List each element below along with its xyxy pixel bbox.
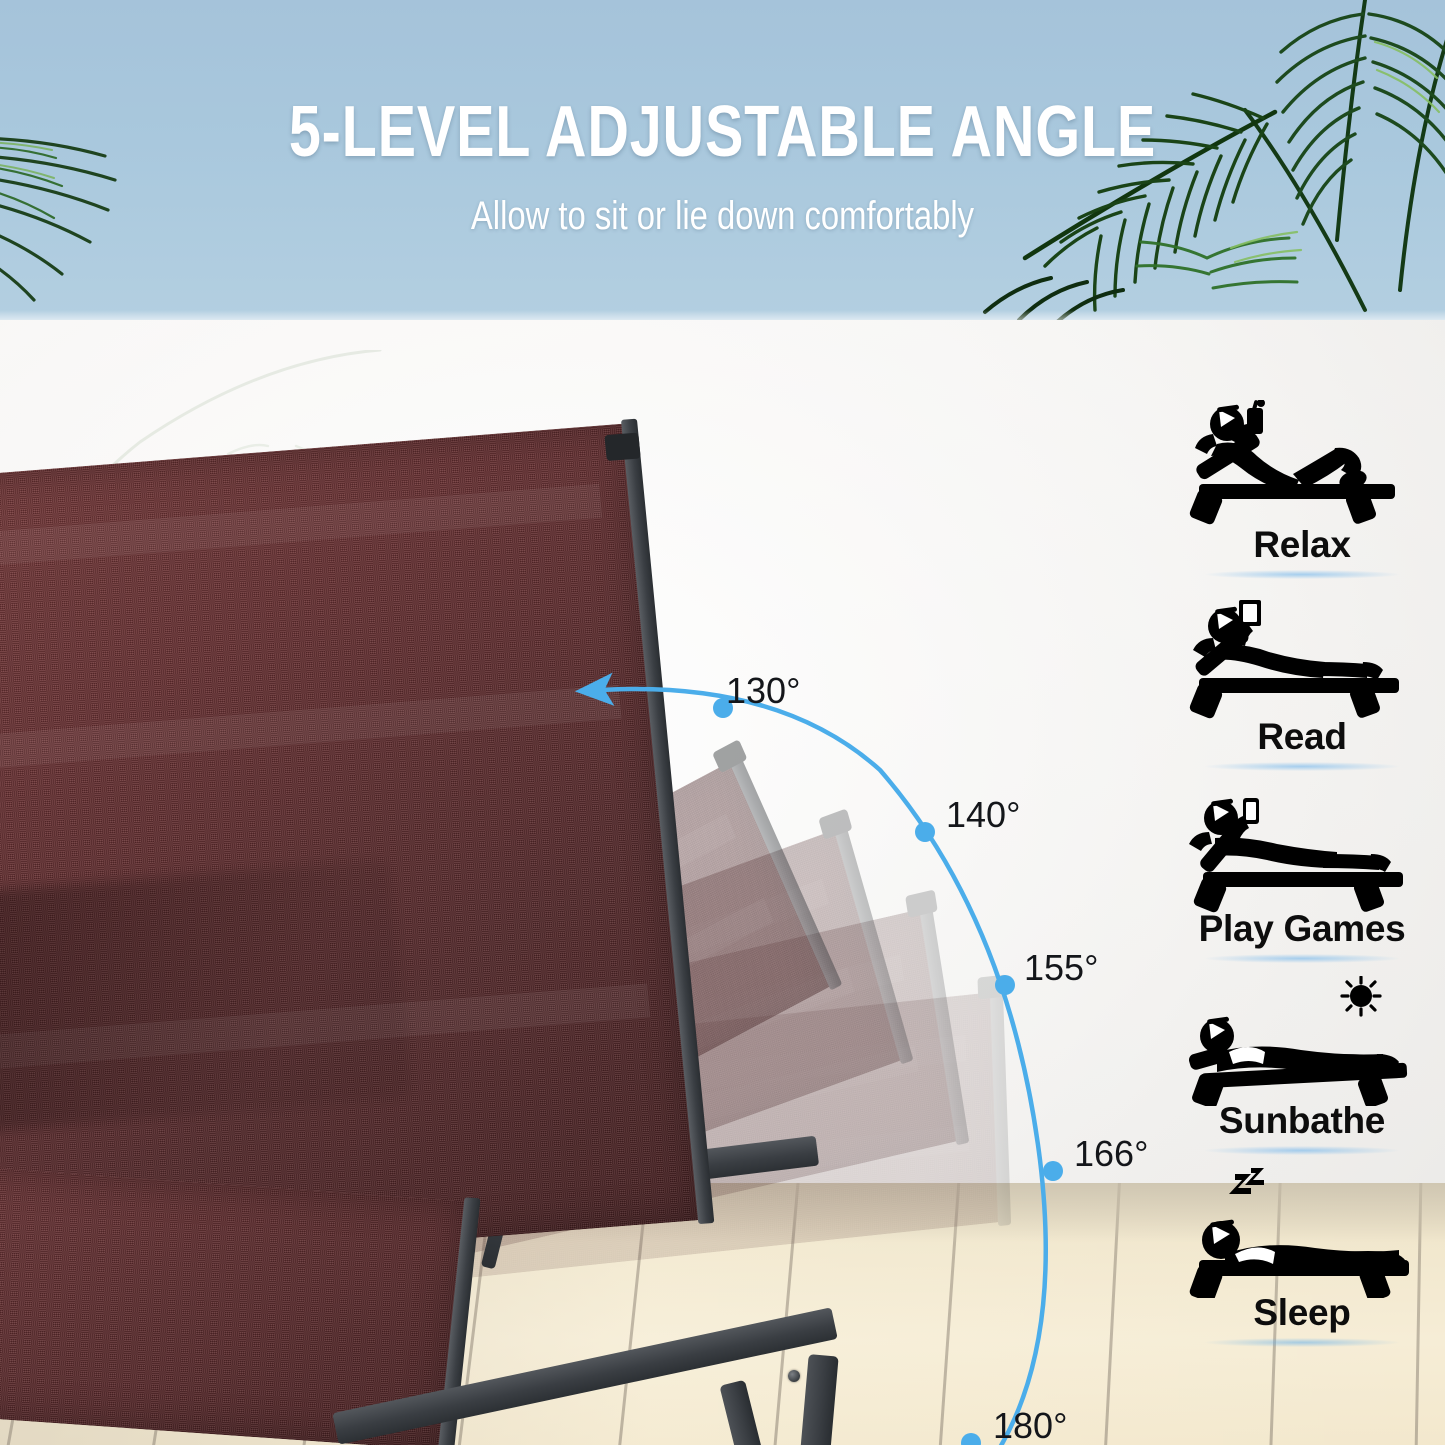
activity-label-play-games: Play Games bbox=[1177, 910, 1427, 947]
person-lying-flat-under-sun-icon bbox=[1177, 976, 1427, 1106]
label-glow bbox=[1205, 1338, 1399, 1347]
activity-item-read[interactable]: Read bbox=[1177, 592, 1427, 780]
header-bottom-fade bbox=[0, 310, 1445, 320]
angle-label-155: 155° bbox=[1024, 950, 1098, 986]
activity-list: Relax bbox=[1177, 400, 1427, 1360]
person-holding-phone-on-lounger-icon bbox=[1177, 784, 1427, 914]
angle-label-166: 166° bbox=[1074, 1136, 1148, 1172]
infographic-canvas: 5-LEVEL ADJUSTABLE ANGLE Allow to sit or… bbox=[0, 0, 1445, 1445]
activity-label-sleep: Sleep bbox=[1177, 1294, 1427, 1331]
header-banner: 5-LEVEL ADJUSTABLE ANGLE Allow to sit or… bbox=[0, 0, 1445, 320]
angle-label-140: 140° bbox=[946, 797, 1020, 833]
activity-label-relax: Relax bbox=[1177, 526, 1427, 563]
activity-label-sunbathe: Sunbathe bbox=[1177, 1102, 1427, 1139]
person-sleeping-zzz-on-lounger-icon bbox=[1177, 1168, 1427, 1298]
backrest-main-130 bbox=[0, 424, 700, 1280]
frame-bolt-1 bbox=[788, 1370, 800, 1382]
person-relaxing-with-drink-on-lounger-icon bbox=[1177, 400, 1427, 530]
page-subtitle: Allow to sit or lie down comfortably bbox=[130, 196, 1315, 236]
label-glow bbox=[1205, 762, 1399, 771]
activity-item-sunbathe[interactable]: Sunbathe bbox=[1177, 976, 1427, 1164]
person-reading-book-on-lounger-icon bbox=[1177, 592, 1427, 722]
activity-item-relax[interactable]: Relax bbox=[1177, 400, 1427, 588]
label-glow bbox=[1205, 570, 1399, 579]
label-glow bbox=[1205, 954, 1399, 963]
leg-front-right bbox=[791, 1354, 838, 1445]
activity-label-read: Read bbox=[1177, 718, 1427, 755]
activity-item-play-games[interactable]: Play Games bbox=[1177, 784, 1427, 972]
activity-item-sleep[interactable]: Sleep bbox=[1177, 1168, 1427, 1356]
angle-label-180: 180° bbox=[993, 1408, 1067, 1444]
page-title: 5-LEVEL ADJUSTABLE ANGLE bbox=[145, 96, 1301, 168]
angle-label-130: 130° bbox=[726, 673, 800, 709]
label-glow bbox=[1205, 1146, 1399, 1155]
leg-rear-right bbox=[719, 1380, 790, 1445]
